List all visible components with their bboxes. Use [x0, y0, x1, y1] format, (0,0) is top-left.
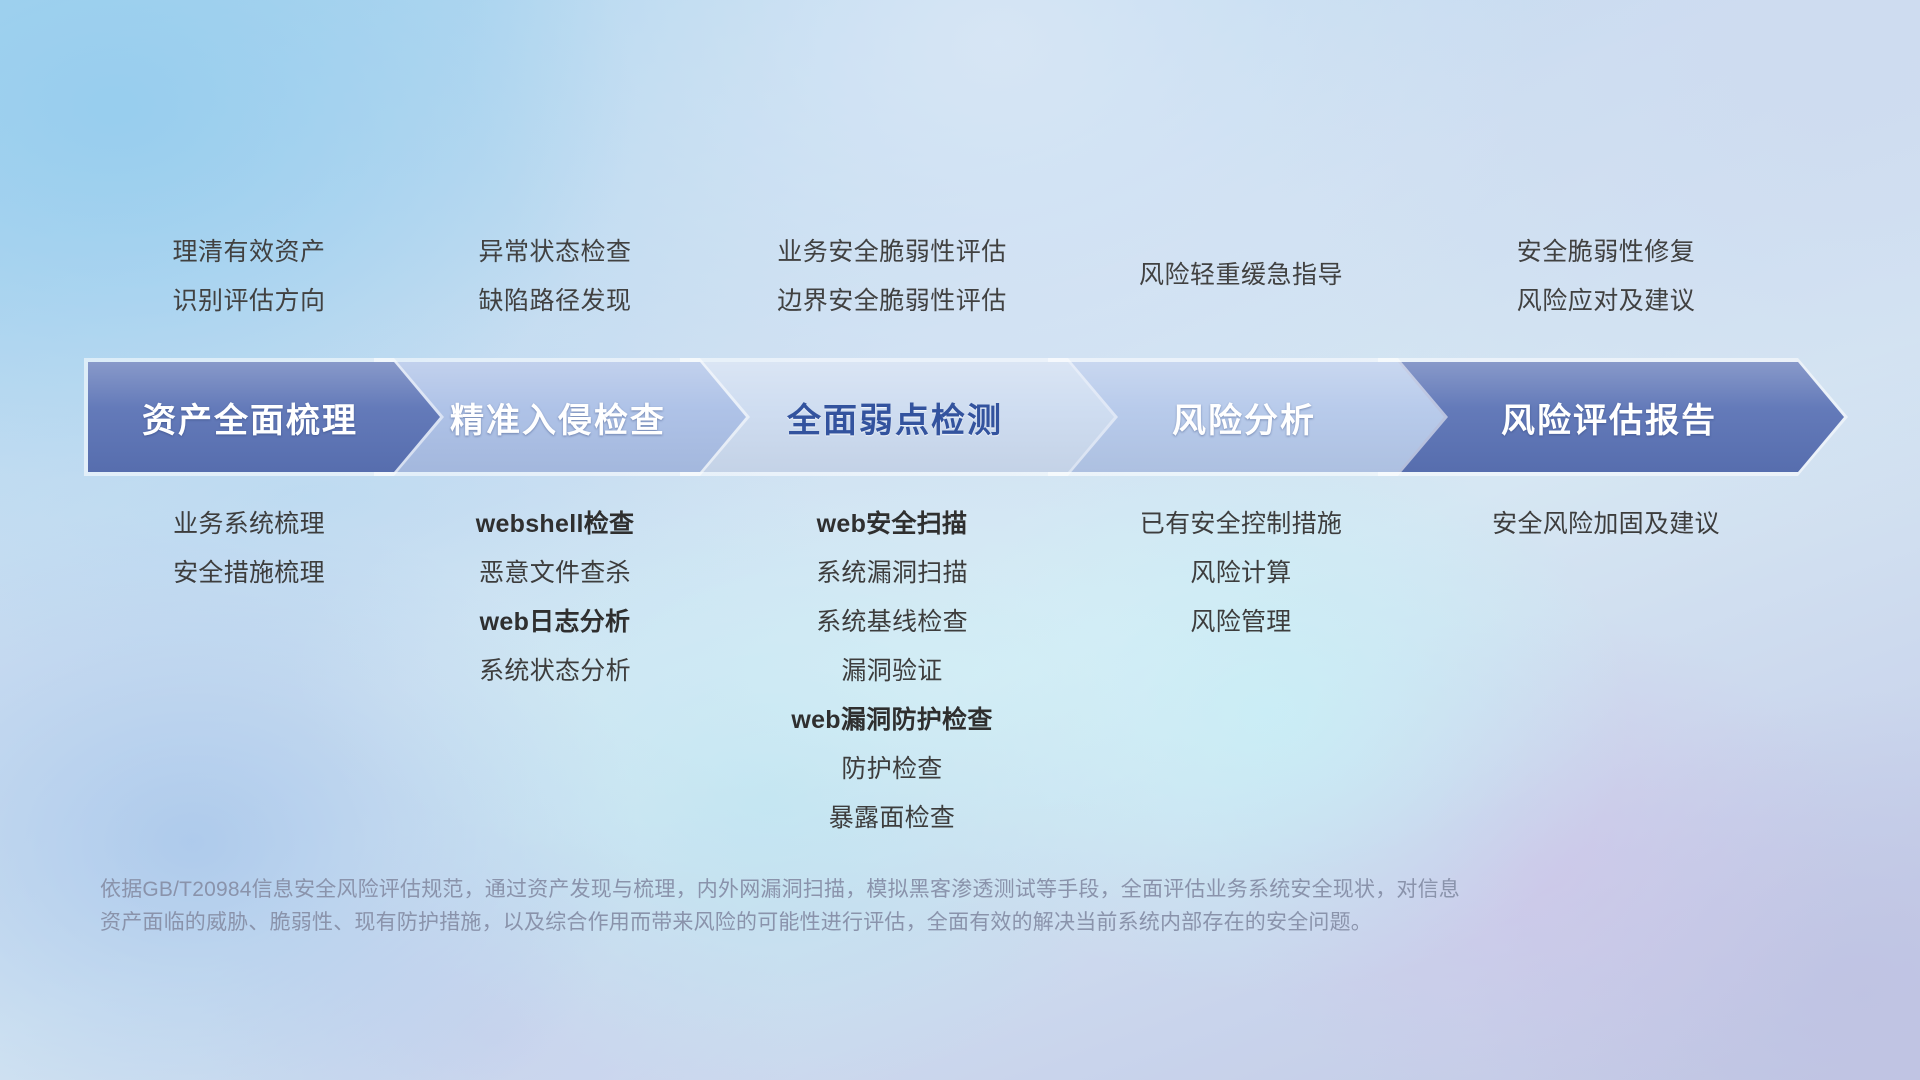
top-label: 理清有效资产 — [172, 228, 325, 277]
footer-description: 依据GB/T20984信息安全风险评估规范，通过资产发现与梳理，内外网漏洞扫描，… — [100, 873, 1620, 939]
detail-item: 风险计算 — [1190, 549, 1291, 598]
chevron-label: 风险分析 — [1172, 393, 1316, 442]
detail-item: 恶意文件查杀 — [479, 549, 631, 598]
top-label-group-risk-analysis: 风险轻重缓急指导 — [1076, 228, 1406, 338]
top-label: 缺陷路径发现 — [478, 277, 631, 326]
detail-item: 已有安全控制措施 — [1140, 500, 1342, 549]
process-chevron-banner: 资产全面梳理精准入侵检查全面弱点检测风险分析风险评估报告 — [88, 362, 1858, 472]
footer-line-2: 资产面临的威胁、脆弱性、现有防护措施，以及综合作用而带来风险的可能性进行评估，全… — [100, 906, 1620, 939]
top-label: 业务安全脆弱性评估 — [777, 228, 1007, 277]
top-label: 异常状态检查 — [478, 228, 631, 277]
detail-group-asset-inventory: 业务系统梳理安全措施梳理 — [96, 500, 402, 830]
top-label-row: 理清有效资产识别评估方向异常状态检查缺陷路径发现业务安全脆弱性评估边界安全脆弱性… — [96, 228, 1856, 338]
detail-group-weakness-detection: web安全扫描系统漏洞扫描系统基线检查漏洞验证web漏洞防护检查防护检查暴露面检… — [708, 500, 1076, 830]
detail-item: 系统基线检查 — [816, 598, 968, 647]
top-label: 安全脆弱性修复 — [1517, 228, 1696, 277]
top-label-group-weakness-detection: 业务安全脆弱性评估边界安全脆弱性评估 — [708, 228, 1076, 338]
detail-item: web漏洞防护检查 — [791, 696, 992, 745]
chevron-label: 精准入侵检查 — [450, 393, 666, 442]
chevron-stage-asset-inventory[interactable]: 资产全面梳理 — [88, 362, 440, 472]
detail-item: web日志分析 — [480, 598, 631, 647]
detail-item: web安全扫描 — [817, 500, 968, 549]
top-label-group-asset-inventory: 理清有效资产识别评估方向 — [96, 228, 402, 338]
chevron-label: 全面弱点检测 — [787, 393, 1003, 442]
top-label-group-intrusion-check: 异常状态检查缺陷路径发现 — [402, 228, 708, 338]
bottom-detail-row: 业务系统梳理安全措施梳理webshell检查恶意文件查杀web日志分析系统状态分… — [96, 500, 1856, 830]
chevron-label: 资产全面梳理 — [142, 393, 358, 442]
detail-item: 系统漏洞扫描 — [816, 549, 968, 598]
detail-group-risk-analysis: 已有安全控制措施风险计算风险管理 — [1076, 500, 1406, 830]
detail-group-assessment-report: 安全风险加固及建议 — [1406, 500, 1806, 830]
top-label: 风险轻重缓急指导 — [1139, 251, 1343, 300]
top-label: 边界安全脆弱性评估 — [777, 277, 1007, 326]
detail-item: 安全措施梳理 — [173, 549, 325, 598]
infographic-stage: 理清有效资产识别评估方向异常状态检查缺陷路径发现业务安全脆弱性评估边界安全脆弱性… — [0, 0, 1920, 1080]
detail-item: 系统状态分析 — [479, 647, 631, 696]
top-label: 风险应对及建议 — [1517, 277, 1696, 326]
detail-item: 安全风险加固及建议 — [1492, 500, 1720, 549]
footer-line-1: 依据GB/T20984信息安全风险评估规范，通过资产发现与梳理，内外网漏洞扫描，… — [100, 873, 1620, 906]
detail-item: 业务系统梳理 — [173, 500, 325, 549]
detail-item: 暴露面检查 — [829, 794, 956, 843]
detail-item: webshell检查 — [476, 500, 635, 549]
top-label-group-assessment-report: 安全脆弱性修复风险应对及建议 — [1406, 228, 1806, 338]
chevron-stage-assessment-report[interactable]: 风险评估报告 — [1382, 362, 1844, 472]
detail-item: 风险管理 — [1190, 598, 1291, 647]
detail-group-intrusion-check: webshell检查恶意文件查杀web日志分析系统状态分析 — [402, 500, 708, 830]
detail-item: 防护检查 — [841, 745, 942, 794]
detail-item: 漏洞验证 — [841, 647, 942, 696]
top-label: 识别评估方向 — [172, 277, 325, 326]
chevron-label: 风险评估报告 — [1501, 393, 1717, 442]
